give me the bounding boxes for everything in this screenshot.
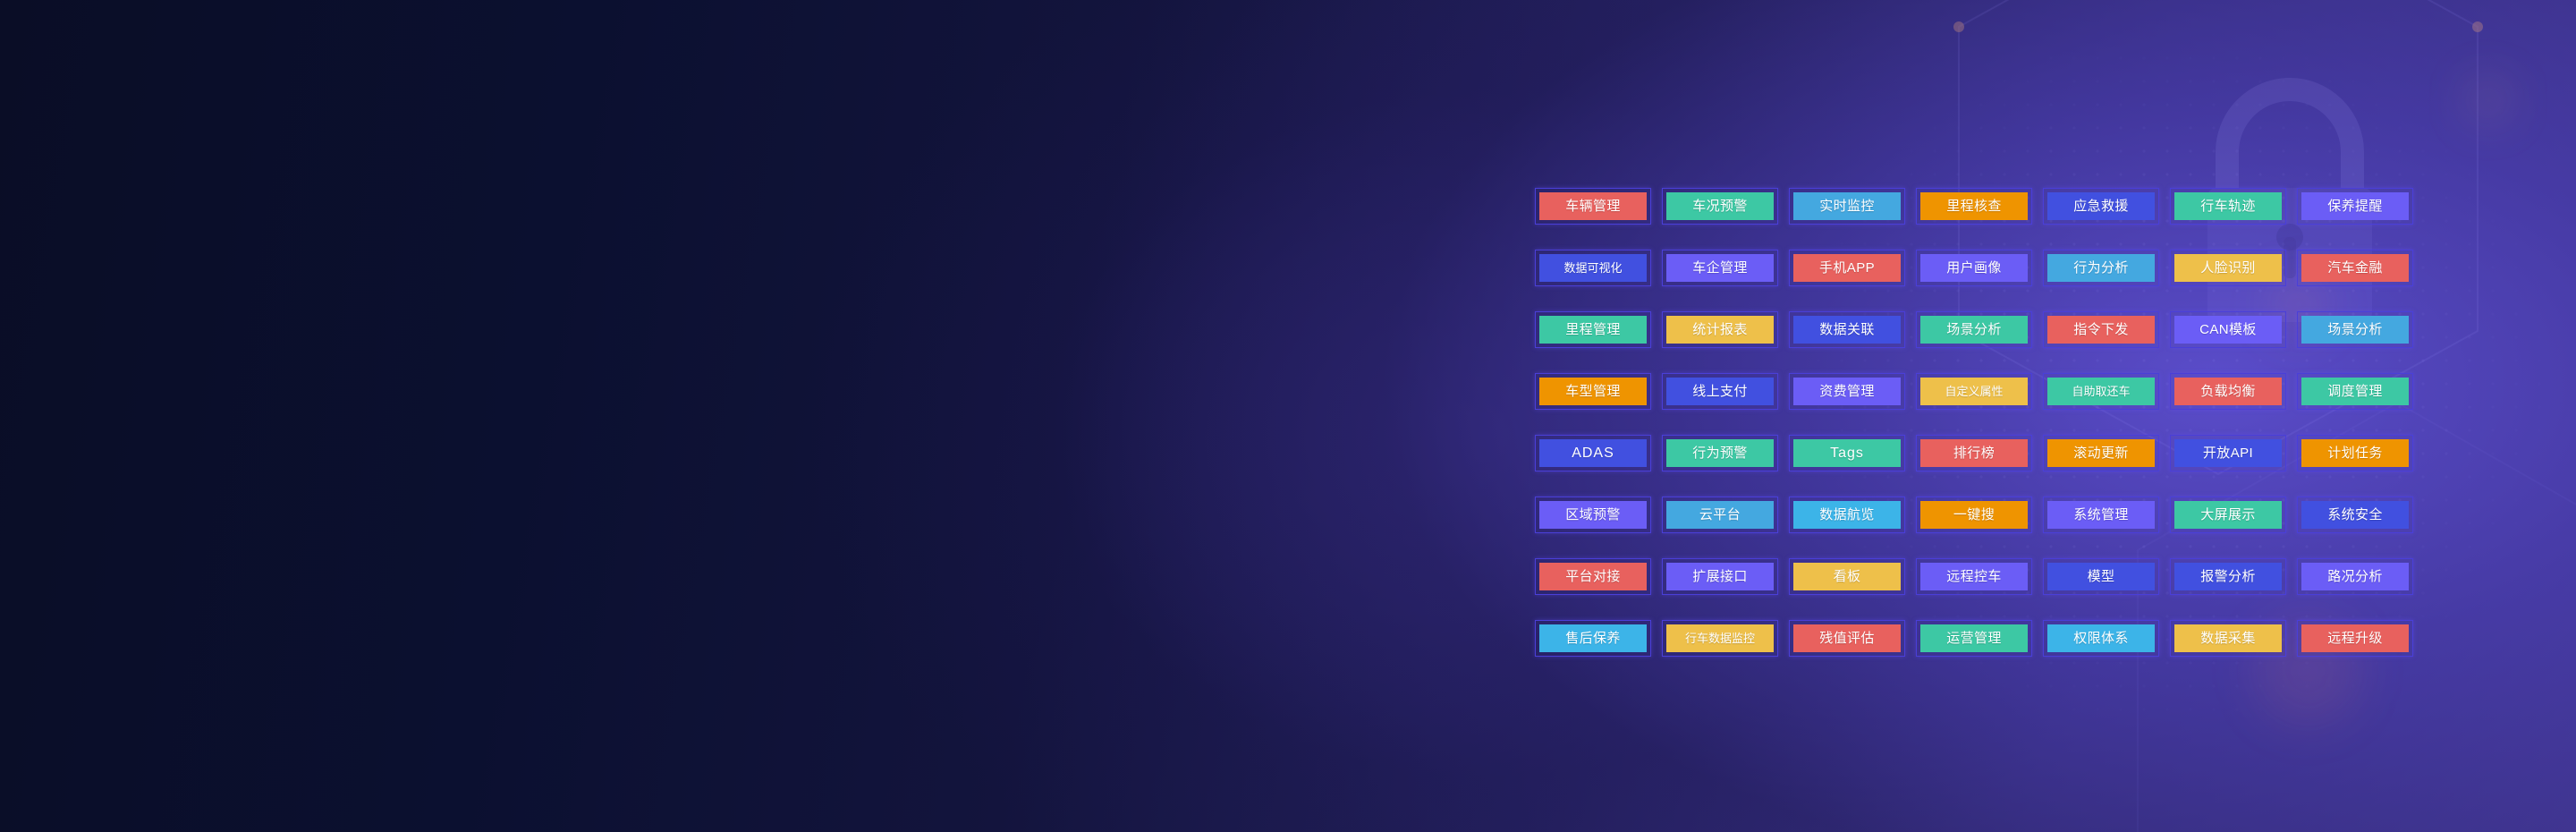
feature-tag-label: 远程升级 xyxy=(2327,632,2383,645)
feature-tag-label: 车辆管理 xyxy=(1565,200,1621,213)
feature-tag-fill: 大屏展示 xyxy=(2174,501,2282,529)
feature-tag-label: 负载均衡 xyxy=(2200,385,2256,398)
feature-tag[interactable]: 数据采集 xyxy=(2170,620,2286,657)
feature-tag-fill: 车企管理 xyxy=(1666,254,1774,282)
feature-tag-label: 里程核查 xyxy=(1946,200,2002,213)
feature-tag-label: 调度管理 xyxy=(2327,385,2383,398)
feature-tag[interactable]: 行车数据监控 xyxy=(1662,620,1778,657)
feature-tag[interactable]: 远程升级 xyxy=(2297,620,2413,657)
feature-tag-fill: 数据关联 xyxy=(1793,316,1901,344)
feature-tag-label: 报警分析 xyxy=(2200,570,2256,583)
feature-tag-fill: 数据可视化 xyxy=(1539,254,1647,282)
feature-tag[interactable]: 里程核查 xyxy=(1916,188,2032,225)
feature-tag-fill: 里程管理 xyxy=(1539,316,1647,344)
feature-tag-fill: 资费管理 xyxy=(1793,378,1901,405)
feature-tag-fill: 滚动更新 xyxy=(2047,439,2155,467)
feature-tag[interactable]: 排行榜 xyxy=(1916,435,2032,471)
feature-tag-label: 系统管理 xyxy=(2073,508,2129,522)
feature-tag-label: 资费管理 xyxy=(1819,385,1875,398)
feature-tag-label: 数据关联 xyxy=(1819,323,1875,336)
feature-tag[interactable]: 一键搜 xyxy=(1916,497,2032,533)
feature-tag[interactable]: 资费管理 xyxy=(1789,373,1905,410)
feature-tag-label: 大屏展示 xyxy=(2200,508,2256,522)
feature-tag[interactable]: 实时监控 xyxy=(1789,188,1905,225)
feature-tag-label: 模型 xyxy=(2088,570,2115,583)
feature-tag[interactable]: 运营管理 xyxy=(1916,620,2032,657)
feature-tag-label: 权限体系 xyxy=(2073,632,2129,645)
feature-tag-fill: 应急救援 xyxy=(2047,192,2155,220)
feature-tag-label: 远程控车 xyxy=(1946,570,2002,583)
feature-tag-fill: 保养提醒 xyxy=(2301,192,2409,220)
feature-tag-label: 用户画像 xyxy=(1946,261,2002,275)
feature-tag-label: Tags xyxy=(1830,446,1864,461)
feature-tag[interactable]: 自助取还车 xyxy=(2043,373,2159,410)
feature-tag-label: 数据采集 xyxy=(2200,632,2256,645)
feature-tag-label: 路况分析 xyxy=(2327,570,2383,583)
feature-tag-label: 数据可视化 xyxy=(1563,262,1622,274)
feature-tag-fill: 售后保养 xyxy=(1539,624,1647,652)
feature-tag-label: 行车数据监控 xyxy=(1685,632,1755,644)
feature-tag-fill: 自助取还车 xyxy=(2047,378,2155,405)
feature-tag-fill: 残值评估 xyxy=(1793,624,1901,652)
feature-tag-label: 扩展接口 xyxy=(1692,570,1748,583)
feature-tag[interactable]: 统计报表 xyxy=(1662,311,1778,348)
feature-tag-label: 车企管理 xyxy=(1692,261,1748,275)
feature-tag[interactable]: 系统安全 xyxy=(2297,497,2413,533)
feature-tag-grid: 车辆管理车况预警实时监控里程核查应急救援行车轨迹保养提醒数据可视化车企管理手机A… xyxy=(1535,188,2413,657)
feature-tag-fill: 权限体系 xyxy=(2047,624,2155,652)
feature-tag-label: 运营管理 xyxy=(1946,632,2002,645)
feature-tag[interactable]: 车企管理 xyxy=(1662,250,1778,286)
feature-tag[interactable]: 计划任务 xyxy=(2297,435,2413,471)
feature-tag[interactable]: 行为分析 xyxy=(2043,250,2159,286)
feature-tag-fill: 系统管理 xyxy=(2047,501,2155,529)
feature-tag[interactable]: 行为预警 xyxy=(1662,435,1778,471)
feature-tag-fill: 路况分析 xyxy=(2301,563,2409,590)
feature-tag[interactable]: 售后保养 xyxy=(1535,620,1651,657)
feature-tag[interactable]: 平台对接 xyxy=(1535,558,1651,595)
feature-tag[interactable]: 扩展接口 xyxy=(1662,558,1778,595)
feature-tag-label: 人脸识别 xyxy=(2200,261,2256,275)
feature-tag-label: 线上支付 xyxy=(1692,385,1748,398)
feature-tag[interactable]: 车型管理 xyxy=(1535,373,1651,410)
feature-tag-fill: 车辆管理 xyxy=(1539,192,1647,220)
feature-tag[interactable]: 里程管理 xyxy=(1535,311,1651,348)
feature-tag[interactable]: 用户画像 xyxy=(1916,250,2032,286)
feature-tag[interactable]: 汽车金融 xyxy=(2297,250,2413,286)
feature-tag[interactable]: Tags xyxy=(1789,435,1905,471)
feature-tag-fill: 排行榜 xyxy=(1920,439,2028,467)
feature-tag[interactable]: 场景分析 xyxy=(1916,311,2032,348)
feature-tag-label: 场景分析 xyxy=(2327,323,2383,336)
feature-tag-label: 售后保养 xyxy=(1565,632,1621,645)
feature-tag-fill: 模型 xyxy=(2047,563,2155,590)
feature-tag-label: 一键搜 xyxy=(1953,508,1995,522)
feature-tag[interactable]: CAN模板 xyxy=(2170,311,2286,348)
feature-tag[interactable]: 大屏展示 xyxy=(2170,497,2286,533)
feature-tag-fill: 平台对接 xyxy=(1539,563,1647,590)
feature-tag-label: 自定义属性 xyxy=(1945,386,2003,397)
feature-tag-label: 系统安全 xyxy=(2327,508,2383,522)
feature-tag[interactable]: 应急救援 xyxy=(2043,188,2159,225)
feature-tag-label: 区域预警 xyxy=(1565,508,1621,522)
feature-tag[interactable]: 场景分析 xyxy=(2297,311,2413,348)
feature-tag-label: 残值评估 xyxy=(1819,632,1875,645)
feature-tag-label: 应急救援 xyxy=(2073,200,2129,213)
feature-tag[interactable]: 残值评估 xyxy=(1789,620,1905,657)
feature-tag-label: 场景分析 xyxy=(1946,323,2002,336)
feature-tag-label: 滚动更新 xyxy=(2073,446,2129,460)
feature-tag-fill: 车况预警 xyxy=(1666,192,1774,220)
feature-tag[interactable]: 保养提醒 xyxy=(2297,188,2413,225)
feature-tag-fill: 一键搜 xyxy=(1920,501,2028,529)
feature-tag-fill: 开放API xyxy=(2174,439,2282,467)
feature-tag-fill: 里程核查 xyxy=(1920,192,2028,220)
feature-tag-label: 看板 xyxy=(1834,570,1861,583)
feature-tag-fill: 汽车金融 xyxy=(2301,254,2409,282)
feature-tag-label: 里程管理 xyxy=(1565,323,1621,336)
feature-tag-fill: 车型管理 xyxy=(1539,378,1647,405)
feature-tag[interactable]: 行车轨迹 xyxy=(2170,188,2286,225)
feature-tag-fill: 数据航览 xyxy=(1793,501,1901,529)
feature-tag[interactable]: ADAS xyxy=(1535,435,1651,471)
feature-tag-fill: 场景分析 xyxy=(1920,316,2028,344)
feature-tag-fill: ADAS xyxy=(1539,439,1647,467)
feature-tag-fill: 人脸识别 xyxy=(2174,254,2282,282)
feature-tag[interactable]: 开放API xyxy=(2170,435,2286,471)
feature-tag-fill: 区域预警 xyxy=(1539,501,1647,529)
feature-tag-label: 实时监控 xyxy=(1819,200,1875,213)
feature-tag[interactable]: 模型 xyxy=(2043,558,2159,595)
feature-tag-fill: 用户画像 xyxy=(1920,254,2028,282)
feature-tag-fill: 调度管理 xyxy=(2301,378,2409,405)
feature-tag-label: 行为分析 xyxy=(2073,261,2129,275)
feature-tag[interactable]: 车况预警 xyxy=(1662,188,1778,225)
feature-tag[interactable]: 远程控车 xyxy=(1916,558,2032,595)
feature-tag-fill: 报警分析 xyxy=(2174,563,2282,590)
feature-tag-label: CAN模板 xyxy=(2199,323,2257,336)
feature-tag-fill: Tags xyxy=(1793,439,1901,467)
feature-tag-fill: 行为分析 xyxy=(2047,254,2155,282)
glow-orb-top xyxy=(2469,81,2508,120)
feature-tag-label: 行车轨迹 xyxy=(2200,200,2256,213)
feature-tag[interactable]: 数据航览 xyxy=(1789,497,1905,533)
feature-tag-label: 车型管理 xyxy=(1565,385,1621,398)
feature-tag[interactable]: 指令下发 xyxy=(2043,311,2159,348)
feature-tag-fill: 行车数据监控 xyxy=(1666,624,1774,652)
feature-tag-fill: 计划任务 xyxy=(2301,439,2409,467)
feature-tag-label: 汽车金融 xyxy=(2327,261,2383,275)
feature-tag[interactable]: 路况分析 xyxy=(2297,558,2413,595)
feature-tag-fill: 行为预警 xyxy=(1666,439,1774,467)
screen-root: 车辆管理车况预警实时监控里程核查应急救援行车轨迹保养提醒数据可视化车企管理手机A… xyxy=(0,0,2576,832)
feature-tag[interactable]: 云平台 xyxy=(1662,497,1778,533)
feature-tag-fill: 看板 xyxy=(1793,563,1901,590)
feature-tag-fill: 数据采集 xyxy=(2174,624,2282,652)
feature-tag[interactable]: 线上支付 xyxy=(1662,373,1778,410)
feature-tag-label: 平台对接 xyxy=(1565,570,1621,583)
feature-tag[interactable]: 调度管理 xyxy=(2297,373,2413,410)
feature-tag-fill: 统计报表 xyxy=(1666,316,1774,344)
feature-tag[interactable]: 报警分析 xyxy=(2170,558,2286,595)
feature-tag-label: 计划任务 xyxy=(2327,446,2383,460)
feature-tag[interactable]: 滚动更新 xyxy=(2043,435,2159,471)
feature-tag-fill: 云平台 xyxy=(1666,501,1774,529)
feature-tag-fill: 手机APP xyxy=(1793,254,1901,282)
feature-tag-fill: 指令下发 xyxy=(2047,316,2155,344)
feature-tag-label: 手机APP xyxy=(1819,261,1875,275)
feature-tag-label: 自助取还车 xyxy=(2072,386,2130,397)
feature-tag[interactable]: 数据可视化 xyxy=(1535,250,1651,286)
feature-tag[interactable]: 人脸识别 xyxy=(2170,250,2286,286)
feature-tag[interactable]: 看板 xyxy=(1789,558,1905,595)
feature-tag-fill: 场景分析 xyxy=(2301,316,2409,344)
feature-tag-label: 行为预警 xyxy=(1692,446,1748,460)
feature-tag[interactable]: 区域预警 xyxy=(1535,497,1651,533)
feature-tag-fill: 行车轨迹 xyxy=(2174,192,2282,220)
feature-tag[interactable]: 系统管理 xyxy=(2043,497,2159,533)
feature-tag-label: 车况预警 xyxy=(1692,200,1748,213)
feature-tag-label: ADAS xyxy=(1572,446,1614,461)
feature-tag-fill: 负载均衡 xyxy=(2174,378,2282,405)
feature-tag-fill: 实时监控 xyxy=(1793,192,1901,220)
feature-tag-label: 保养提醒 xyxy=(2327,200,2383,213)
feature-tag-label: 排行榜 xyxy=(1953,446,1995,460)
feature-tag-label: 指令下发 xyxy=(2073,323,2129,336)
feature-tag-label: 开放API xyxy=(2203,446,2253,460)
feature-tag-fill: 运营管理 xyxy=(1920,624,2028,652)
feature-tag[interactable]: 手机APP xyxy=(1789,250,1905,286)
feature-tag-fill: CAN模板 xyxy=(2174,316,2282,344)
feature-tag-label: 统计报表 xyxy=(1692,323,1748,336)
feature-tag[interactable]: 权限体系 xyxy=(2043,620,2159,657)
feature-tag-fill: 远程控车 xyxy=(1920,563,2028,590)
feature-tag-fill: 远程升级 xyxy=(2301,624,2409,652)
feature-tag[interactable]: 自定义属性 xyxy=(1916,373,2032,410)
feature-tag[interactable]: 车辆管理 xyxy=(1535,188,1651,225)
feature-tag[interactable]: 数据关联 xyxy=(1789,311,1905,348)
feature-tag-fill: 系统安全 xyxy=(2301,501,2409,529)
feature-tag[interactable]: 负载均衡 xyxy=(2170,373,2286,410)
feature-tag-fill: 线上支付 xyxy=(1666,378,1774,405)
feature-tag-fill: 扩展接口 xyxy=(1666,563,1774,590)
feature-tag-label: 云平台 xyxy=(1699,508,1741,522)
feature-tag-label: 数据航览 xyxy=(1819,508,1875,522)
feature-tag-fill: 自定义属性 xyxy=(1920,378,2028,405)
